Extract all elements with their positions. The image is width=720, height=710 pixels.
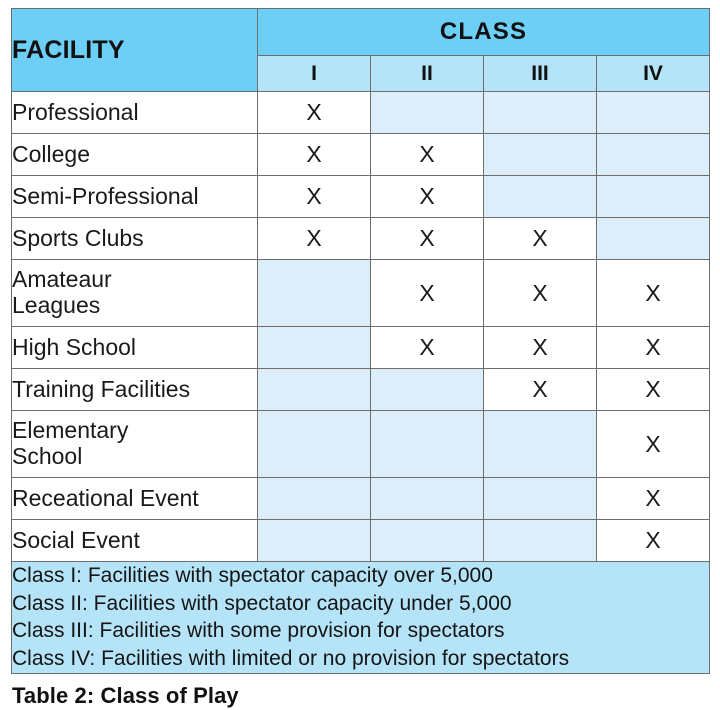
class-definition-line: Class II: Facilities with spectator capa… — [12, 590, 709, 618]
class-mark-cell: X — [371, 134, 484, 176]
class-mark-cell: X — [484, 369, 597, 411]
class-mark-cell: X — [597, 411, 710, 478]
class-mark-cell: X — [258, 134, 371, 176]
class-mark-cell: X — [258, 176, 371, 218]
class-blank-cell — [258, 411, 371, 478]
class-blank-cell — [484, 134, 597, 176]
class-mark-cell: X — [484, 327, 597, 369]
class-blank-cell — [484, 478, 597, 520]
facility-name-cell: Sports Clubs — [12, 218, 258, 260]
facility-name-cell: Elementary School — [12, 411, 258, 478]
class-column-header-iii: III — [484, 56, 597, 92]
table-row: Elementary SchoolX — [12, 411, 710, 478]
class-mark-cell: X — [597, 369, 710, 411]
class-mark-cell: X — [484, 260, 597, 327]
facility-name-cell: Social Event — [12, 520, 258, 562]
table-header: FACILITY CLASS I II III IV — [12, 9, 710, 92]
class-definitions-block: Class I: Facilities with spectator capac… — [12, 562, 710, 674]
facility-name-cell: Training Facilities — [12, 369, 258, 411]
facility-name-cell: Professional — [12, 92, 258, 134]
facility-name-cell: Amateaur Leagues — [12, 260, 258, 327]
table-row: Semi-ProfessionalXX — [12, 176, 710, 218]
class-blank-cell — [371, 369, 484, 411]
class-mark-cell: X — [371, 327, 484, 369]
class-mark-cell: X — [371, 260, 484, 327]
table-row: ProfessionalX — [12, 92, 710, 134]
table-figure: FACILITY CLASS I II III IV ProfessionalX… — [0, 0, 720, 710]
table-row: High SchoolXXX — [12, 327, 710, 369]
class-column-header-i: I — [258, 56, 371, 92]
facility-name-cell: Receational Event — [12, 478, 258, 520]
class-mark-cell: X — [597, 327, 710, 369]
class-blank-cell — [597, 218, 710, 260]
table-caption: Table 2: Class of Play — [12, 683, 709, 709]
class-blank-cell — [484, 92, 597, 134]
table-row: Amateaur LeaguesXXX — [12, 260, 710, 327]
class-blank-cell — [258, 478, 371, 520]
class-mark-cell: X — [258, 218, 371, 260]
table-row: Sports ClubsXXX — [12, 218, 710, 260]
table-footnotes: Class I: Facilities with spectator capac… — [12, 562, 710, 674]
class-blank-cell — [258, 260, 371, 327]
facility-name-cell: College — [12, 134, 258, 176]
class-blank-cell — [258, 327, 371, 369]
table-row: Receational EventX — [12, 478, 710, 520]
class-blank-cell — [371, 520, 484, 562]
class-mark-cell: X — [597, 520, 710, 562]
class-mark-cell: X — [597, 478, 710, 520]
table-row: Training FacilitiesXX — [12, 369, 710, 411]
facility-name-cell: Semi-Professional — [12, 176, 258, 218]
class-mark-cell: X — [484, 218, 597, 260]
class-blank-cell — [484, 176, 597, 218]
class-blank-cell — [371, 411, 484, 478]
footnotes-row: Class I: Facilities with spectator capac… — [12, 562, 710, 674]
class-definition-line: Class III: Facilities with some provisio… — [12, 617, 709, 645]
table-row: CollegeXX — [12, 134, 710, 176]
class-definition-line: Class I: Facilities with spectator capac… — [12, 562, 709, 590]
class-blank-cell — [597, 134, 710, 176]
class-blank-cell — [371, 478, 484, 520]
class-blank-cell — [597, 176, 710, 218]
class-blank-cell — [484, 411, 597, 478]
class-mark-cell: X — [597, 260, 710, 327]
table-body: ProfessionalXCollegeXXSemi-ProfessionalX… — [12, 92, 710, 562]
header-row-top: FACILITY CLASS — [12, 9, 710, 56]
facility-column-header: FACILITY — [12, 9, 258, 92]
class-mark-cell: X — [371, 176, 484, 218]
facility-name-cell: High School — [12, 327, 258, 369]
table-row: Social EventX — [12, 520, 710, 562]
class-blank-cell — [597, 92, 710, 134]
class-mark-cell: X — [258, 92, 371, 134]
class-definition-line: Class IV: Facilities with limited or no … — [12, 645, 709, 673]
class-group-header: CLASS — [258, 9, 710, 56]
class-column-header-ii: II — [371, 56, 484, 92]
class-column-header-iv: IV — [597, 56, 710, 92]
class-mark-cell: X — [371, 218, 484, 260]
class-blank-cell — [371, 92, 484, 134]
class-of-play-table: FACILITY CLASS I II III IV ProfessionalX… — [11, 8, 710, 674]
class-blank-cell — [258, 520, 371, 562]
class-blank-cell — [258, 369, 371, 411]
class-blank-cell — [484, 520, 597, 562]
